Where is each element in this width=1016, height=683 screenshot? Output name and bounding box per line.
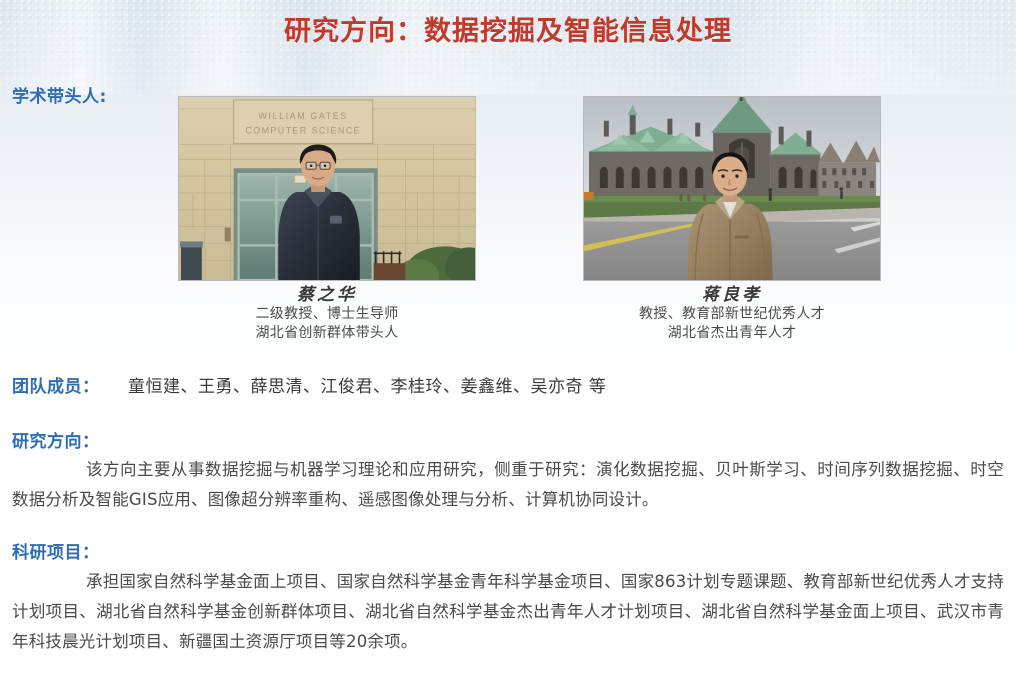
caption-jiang-liangxiao: 蒋良孝 教授、教育部新世纪优秀人才 湖北省杰出青年人才 <box>582 285 882 343</box>
photo-cai-zhihua: WILLIAM GATES COMPUTER SCIENCE <box>178 96 476 281</box>
direction-paragraph: 该方向主要从事数据挖掘与机器学习理论和应用研究，侧重于研究：演化数据挖掘、贝叶斯… <box>12 455 1004 515</box>
direction-section-label: 研究方向： <box>12 427 100 452</box>
projects-section-label: 科研项目： <box>12 538 100 563</box>
page-title: 研究方向：数据挖掘及智能信息处理 <box>0 9 1016 48</box>
slide-root: 研究方向：数据挖掘及智能信息处理 学术带头人: <box>0 0 1016 683</box>
photo-jiang-liangxiao-image <box>584 97 880 280</box>
leader-name: 蒋良孝 <box>582 285 882 305</box>
svg-text:WILLIAM GATES: WILLIAM GATES <box>258 111 347 121</box>
caption-cai-zhihua: 蔡之华 二级教授、博士生导师 湖北省创新群体带头人 <box>177 285 477 343</box>
leader-name: 蔡之华 <box>177 285 477 305</box>
photo-cai-zhihua-image: WILLIAM GATES COMPUTER SCIENCE <box>179 97 475 280</box>
leader-title-2: 湖北省创新群体带头人 <box>177 324 477 343</box>
projects-paragraph: 承担国家自然科学基金面上项目、国家自然科学基金青年科学基金项目、国家863计划专… <box>12 567 1004 657</box>
leader-title-1: 教授、教育部新世纪优秀人才 <box>582 305 882 324</box>
members-section-label: 团队成员： <box>12 372 100 397</box>
members-list: 童恒建、王勇、薛思清、江俊君、李桂玲、姜鑫维、吴亦奇 等 <box>128 372 606 397</box>
leaders-section-label: 学术带头人: <box>12 82 107 107</box>
svg-text:COMPUTER SCIENCE: COMPUTER SCIENCE <box>245 126 360 136</box>
photo-jiang-liangxiao <box>583 96 881 281</box>
leader-title-1: 二级教授、博士生导师 <box>177 305 477 324</box>
leader-title-2: 湖北省杰出青年人才 <box>582 324 882 343</box>
